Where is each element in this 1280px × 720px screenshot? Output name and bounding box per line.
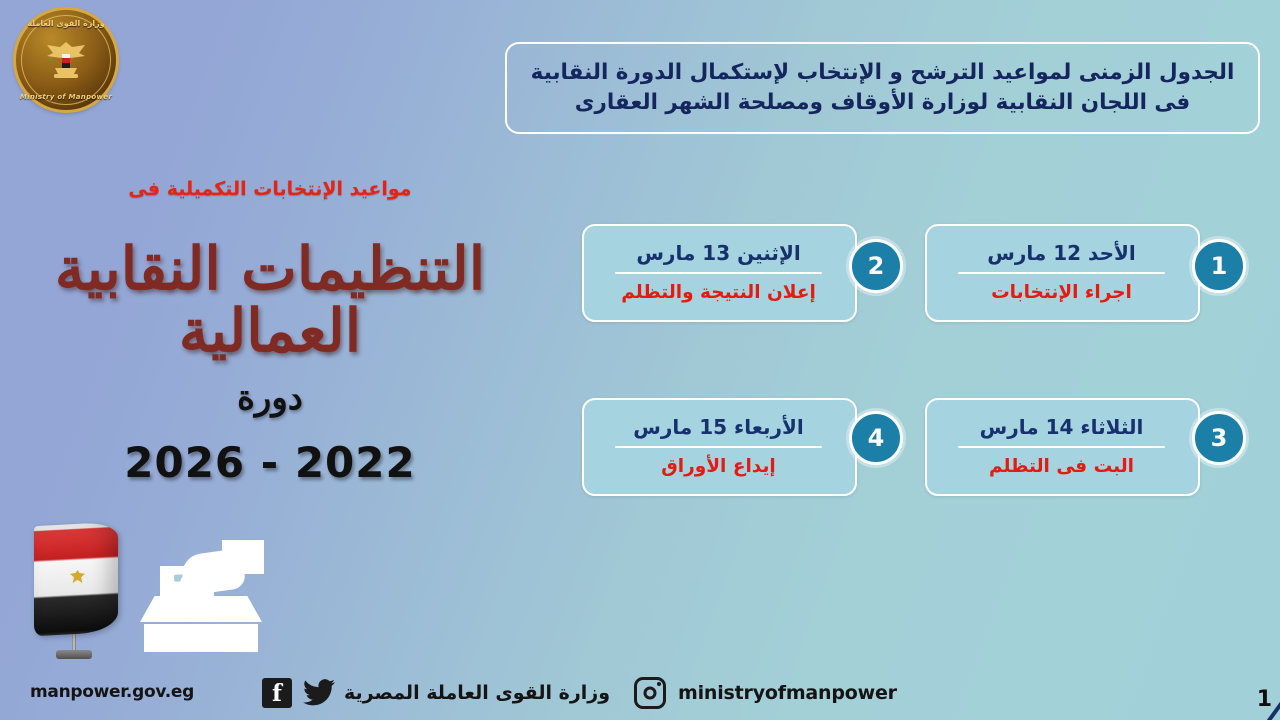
timeline-badge-3[interactable]: 3 — [1192, 411, 1246, 465]
header-title-box: الجدول الزمنى لمواعيد الترشح و الإنتخاب … — [505, 42, 1260, 134]
subtitle-kicker: مواعيد الإنتخابات التكميلية فى — [40, 178, 500, 200]
eagle-of-saladin-icon — [41, 38, 91, 82]
timeline-card-4[interactable]: الأربعاء 15 مارس إيداع الأوراق — [582, 398, 857, 496]
timeline-badge-4[interactable]: 4 — [849, 411, 903, 465]
timeline-card-task: اجراء الإنتخابات — [991, 282, 1132, 303]
timeline-card-date: الإثنين 13 مارس — [636, 242, 800, 265]
page-title: الجدول الزمنى لمواعيد الترشح و الإنتخاب … — [531, 58, 1235, 117]
instagram-icon[interactable] — [634, 677, 666, 709]
instagram-lens-icon — [644, 687, 657, 700]
instagram-dot-icon — [657, 682, 661, 686]
timeline-card-divider — [958, 272, 1165, 274]
timeline-card-divider — [615, 446, 822, 448]
timeline-card-3[interactable]: الثلاثاء 14 مارس البت فى التظلم — [925, 398, 1200, 496]
timeline-card-date: الأحد 12 مارس — [987, 242, 1136, 265]
ballot-box-lid-icon — [140, 596, 262, 622]
timeline-card-date: الأربعاء 15 مارس — [633, 416, 804, 439]
seal-arabic-text: وزارة القوى العاملة — [16, 19, 116, 28]
timeline-card-task: البت فى التظلم — [989, 456, 1134, 477]
ballot-box-icon — [140, 596, 262, 652]
timeline-card-divider — [958, 446, 1165, 448]
instagram-handle[interactable]: ministryofmanpower — [678, 682, 897, 704]
timeline-badge-1[interactable]: 1 — [1192, 239, 1246, 293]
term-label: دورة — [80, 378, 460, 418]
timeline-card-2[interactable]: الإثنين 13 مارس إعلان النتيجة والتظلم — [582, 224, 857, 322]
twitter-icon[interactable] — [303, 679, 335, 707]
social-account-name-arabic: وزارة القوى العاملة المصرية — [344, 682, 610, 704]
page-number: 1 — [1257, 687, 1272, 712]
website-url[interactable]: manpower.gov.eg — [30, 682, 194, 702]
timeline-card-task: إعلان النتيجة والتظلم — [621, 282, 816, 303]
timeline-card-date: الثلاثاء 14 مارس — [980, 416, 1144, 439]
ministry-logo: وزارة القوى العاملة Ministry of Manpower — [16, 10, 116, 110]
seal-english-text: Ministry of Manpower — [16, 93, 116, 101]
timeline-card-task: إيداع الأوراق — [661, 456, 776, 477]
timeline-card-1[interactable]: الأحد 12 مارس اجراء الإنتخابات — [925, 224, 1200, 322]
timeline-badge-2[interactable]: 2 — [849, 239, 903, 293]
timeline-card-divider — [615, 272, 822, 274]
footer: manpower.gov.eg f وزارة القوى العاملة ال… — [0, 658, 1280, 720]
term-years: 2026 - 2022 — [80, 438, 460, 487]
election-illustration — [22, 518, 272, 670]
facebook-icon[interactable]: f — [262, 678, 292, 708]
main-headline: التنظيمات النقابية العمالية — [10, 238, 530, 362]
ballot-box-body-icon — [144, 624, 258, 652]
